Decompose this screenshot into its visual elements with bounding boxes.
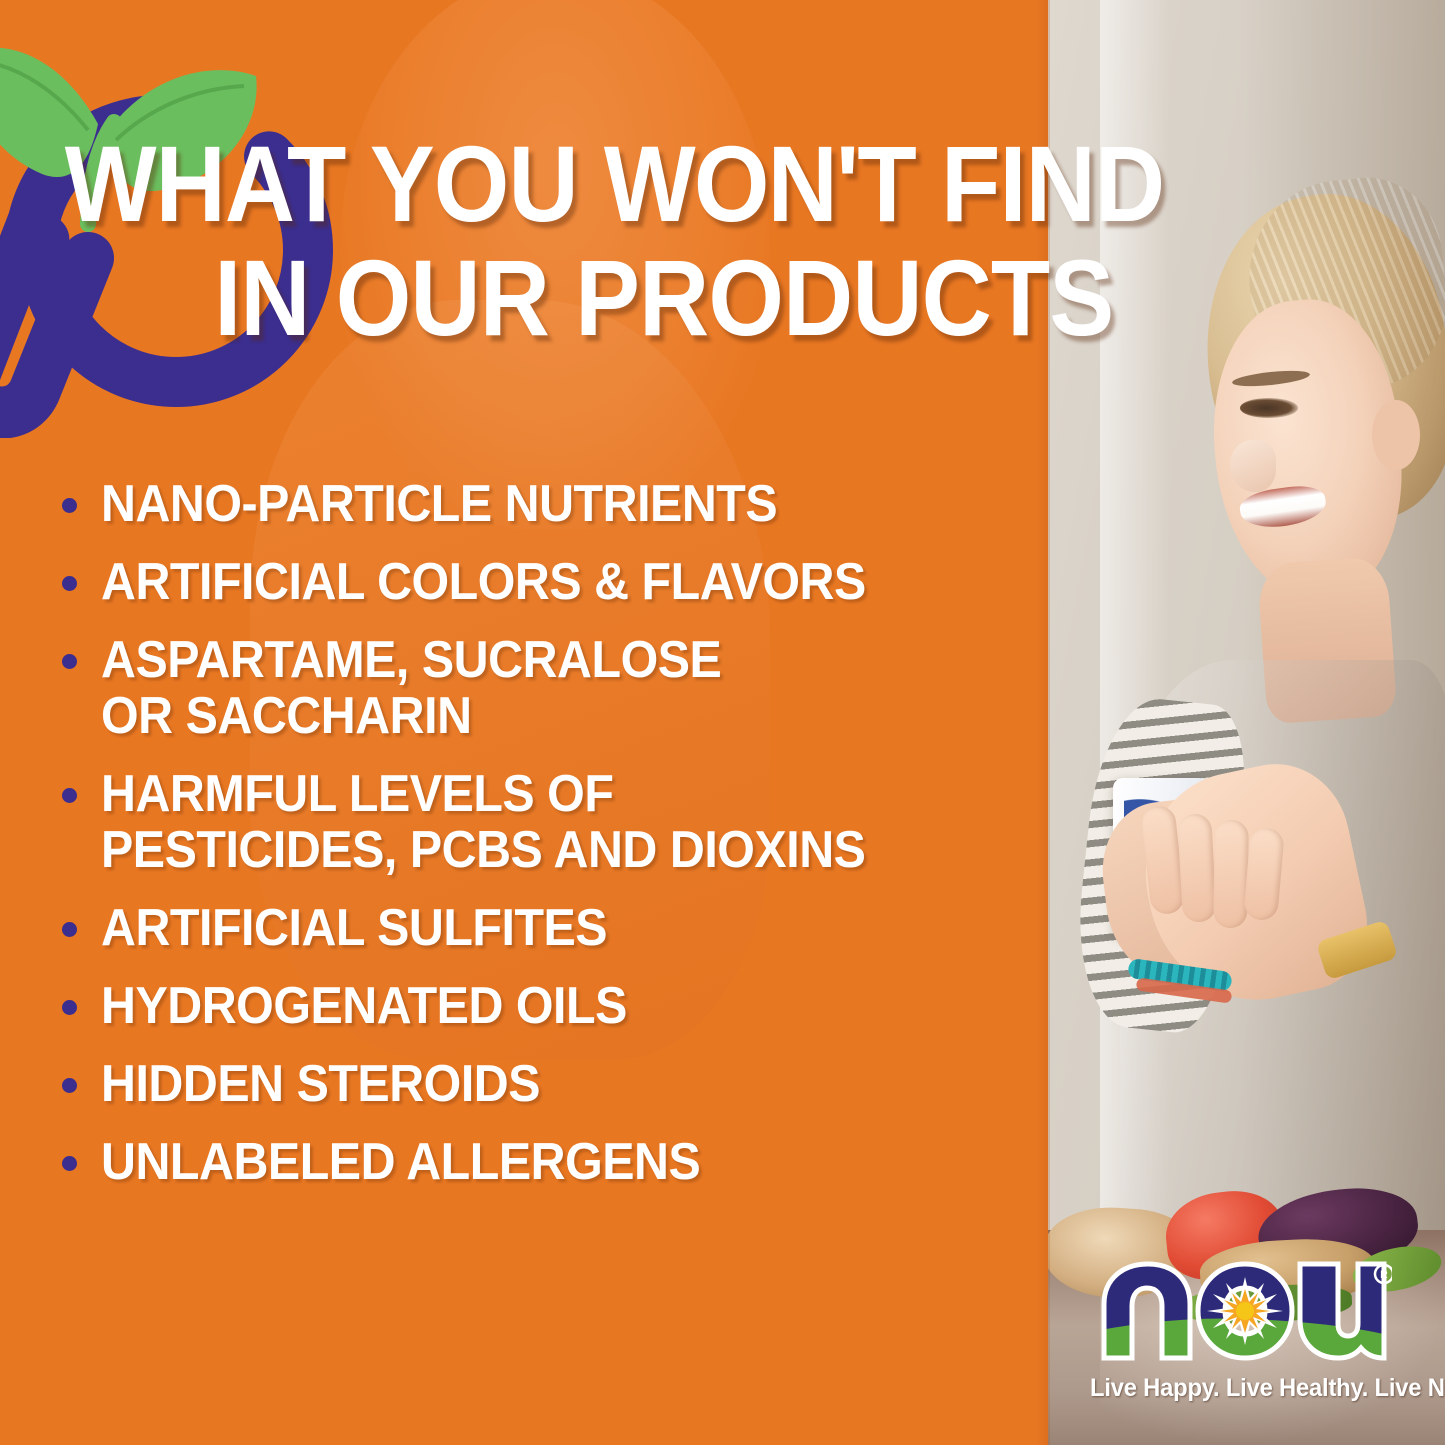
list-item: ASPARTAME, SUCRALOSE OR SACCHARIN — [62, 632, 1042, 744]
woman-eye — [1240, 398, 1298, 418]
bullet-dot-icon — [62, 1078, 77, 1093]
photo-ghost-overlay — [340, 0, 770, 530]
bullet-dot-icon — [62, 788, 77, 803]
woman-nose — [1230, 440, 1276, 492]
bullet-dot-icon — [62, 1156, 77, 1171]
list-item-label: ARTIFICIAL COLORS & FLAVORS — [101, 554, 866, 610]
promo-poster: WHAT YOU WON'T FIND IN OUR PRODUCTS NANO… — [0, 0, 1445, 1445]
list-item-label: ARTIFICIAL SULFITES — [101, 900, 607, 956]
list-item: HIDDEN STEROIDS — [62, 1056, 1042, 1112]
woman-ear — [1372, 400, 1420, 470]
bullet-dot-icon — [62, 922, 77, 937]
svg-text:R: R — [1380, 1269, 1388, 1281]
list-item: ARTIFICIAL SULFITES — [62, 900, 1042, 956]
bullet-dot-icon — [62, 654, 77, 669]
list-item-label: NANO-PARTICLE NUTRIENTS — [101, 476, 777, 532]
list-item-label: ASPARTAME, SUCRALOSE OR SACCHARIN — [101, 632, 721, 744]
brand-tagline: Live Happy. Live Healthy. Live NOW. — [1090, 1374, 1404, 1403]
list-item-label: HIDDEN STEROIDS — [101, 1056, 540, 1112]
bullet-dot-icon — [62, 1000, 77, 1015]
list-item: HARMFUL LEVELS OF PESTICIDES, PCBS AND D… — [62, 766, 1042, 878]
list-item-label: UNLABELED ALLERGENS — [101, 1134, 700, 1190]
list-item-label: HARMFUL LEVELS OF PESTICIDES, PCBS AND D… — [101, 766, 865, 878]
list-item-label: HYDROGENATED OILS — [101, 978, 627, 1034]
now-wordmark-icon: R — [1090, 1258, 1392, 1370]
list-item: UNLABELED ALLERGENS — [62, 1134, 1042, 1190]
list-item: NANO-PARTICLE NUTRIENTS — [62, 476, 1042, 532]
bullet-dot-icon — [62, 576, 77, 591]
bullet-dot-icon — [62, 498, 77, 513]
excluded-ingredients-list: NANO-PARTICLE NUTRIENTS ARTIFICIAL COLOR… — [62, 476, 1042, 1212]
now-brand-logo: R Live Happy. Live Healthy. Live NOW. — [1090, 1258, 1420, 1403]
finger — [1177, 813, 1217, 923]
list-item: HYDROGENATED OILS — [62, 978, 1042, 1034]
list-item: ARTIFICIAL COLORS & FLAVORS — [62, 554, 1042, 610]
finger — [1213, 820, 1249, 929]
